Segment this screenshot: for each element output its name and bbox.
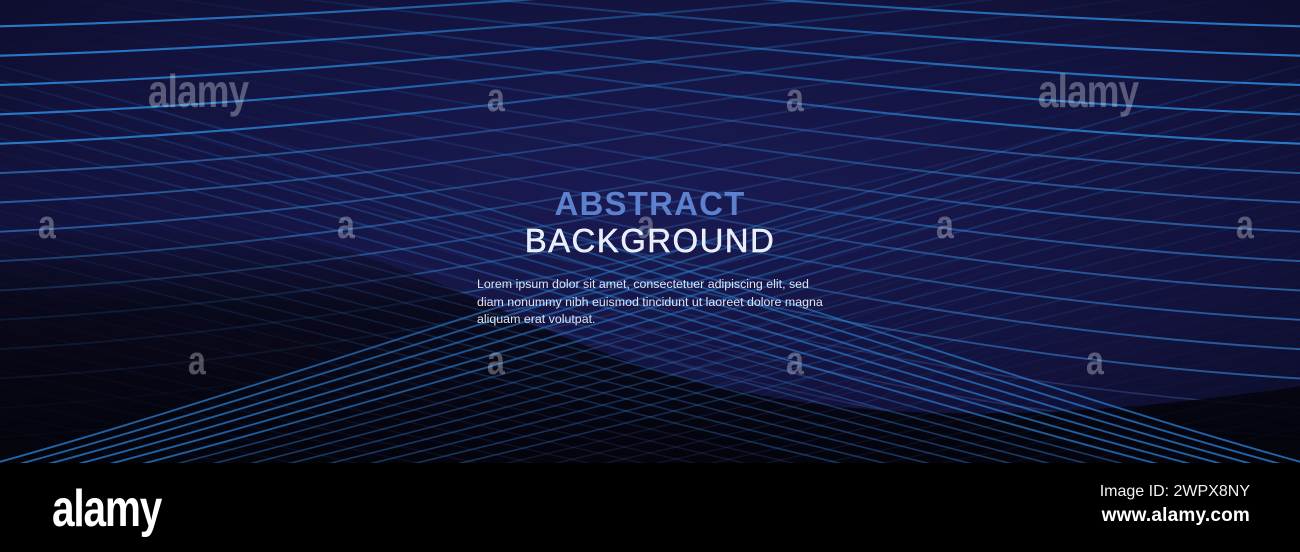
screenshot-root: alamyalamyaaaaaaaaaaa ABSTRACT BACKGROUN… bbox=[0, 0, 1300, 552]
background-line-art bbox=[0, 0, 1300, 463]
footer-meta: Image ID: 2WPX8NY www.alamy.com bbox=[1100, 481, 1250, 529]
image-id-label: Image ID: 2WPX8NY bbox=[1100, 481, 1250, 503]
alamy-logo[interactable]: alamy bbox=[52, 483, 161, 535]
website-link[interactable]: www.alamy.com bbox=[1100, 503, 1250, 529]
abstract-background-artwork: alamyalamyaaaaaaaaaaa ABSTRACT BACKGROUN… bbox=[0, 0, 1300, 463]
